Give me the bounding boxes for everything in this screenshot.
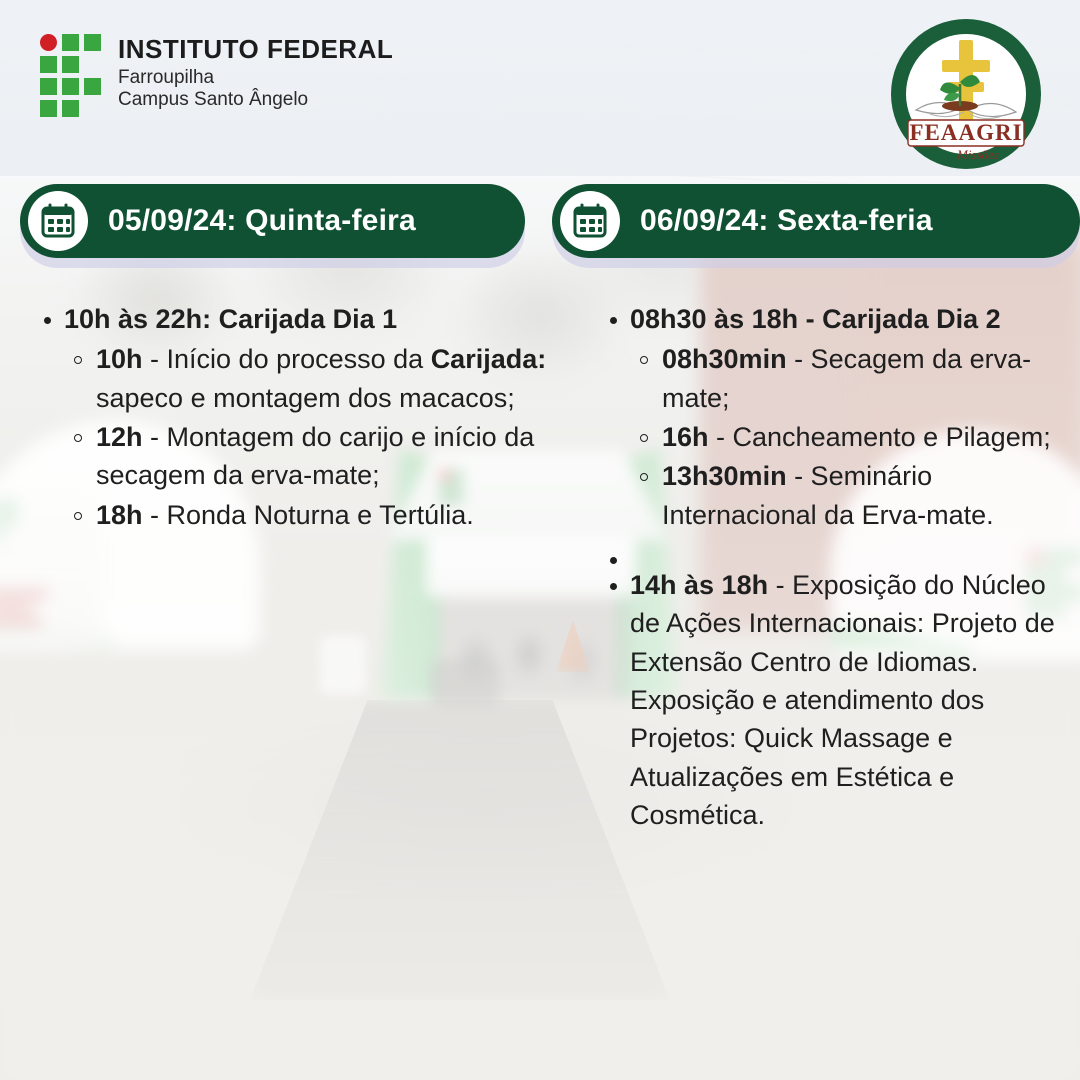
poster-canvas: INSTITUTO FEDERAL Farroupilha Campus San…	[0, 0, 1080, 1080]
item-title: 08h30 às 18h - Carijada Dia 2	[630, 304, 1001, 334]
list-item: 12h - Montagem do carijo e início da sec…	[64, 418, 549, 495]
day-header-pills: 05/09/24: Quinta-feira	[0, 184, 1080, 276]
day2-item-list: 08h30 às 18h - Carijada Dia 2 08h30min -…	[600, 300, 1060, 834]
svg-text:FEAAGRI: FEAAGRI	[909, 120, 1022, 145]
day2-sub-list: 08h30min - Secagem da erva-mate; 16h - C…	[630, 340, 1060, 534]
list-item: 13h30min - Seminário Internacional da Er…	[630, 457, 1060, 534]
item-title: 10h às 22h: Carijada Dia 1	[64, 304, 397, 334]
list-item: 18h - Ronda Noturna e Tertúlia.	[64, 496, 549, 534]
institution-line3: Campus Santo Ângelo	[118, 89, 393, 111]
day-pill-05-09[interactable]: 05/09/24: Quinta-feira	[20, 184, 525, 258]
item-time: 08h30min	[662, 344, 787, 374]
svg-text:Missões: Missões	[956, 147, 999, 162]
item-time: 14h às 18h	[630, 570, 768, 600]
list-item: 14h às 18h - Exposição do Núcleo de Açõe…	[600, 566, 1060, 834]
item-text: - Ronda Noturna e Tertúlia.	[143, 500, 474, 530]
item-text: - Exposição do Núcleo de Ações Internaci…	[630, 570, 1055, 830]
day-pill-label: 05/09/24: Quinta-feira	[108, 204, 416, 238]
institution-title: INSTITUTO FEDERAL	[118, 36, 393, 62]
item-emphasis: Carijada:	[431, 344, 547, 374]
day1-sub-list: 10h - Início do processo da Carijada: sa…	[64, 340, 549, 534]
list-item: 08h30min - Secagem da erva-mate;	[630, 340, 1060, 417]
item-time: 10h	[96, 344, 143, 374]
poster-header: INSTITUTO FEDERAL Farroupilha Campus San…	[0, 0, 1080, 176]
day1-item-list: 10h às 22h: Carijada Dia 1 10h - Início …	[34, 300, 549, 534]
item-text-cont: sapeco e montagem dos macacos;	[96, 383, 515, 413]
institution-line2: Farroupilha	[118, 67, 393, 89]
calendar-icon	[28, 191, 88, 251]
schedule-column-day1: 10h às 22h: Carijada Dia 1 10h - Início …	[34, 300, 549, 540]
calendar-icon	[560, 191, 620, 251]
item-text: - Cancheamento e Pilagem;	[709, 422, 1051, 452]
list-item: 08h30 às 18h - Carijada Dia 2 08h30min -…	[600, 300, 1060, 534]
list-item: 10h às 22h: Carijada Dia 1 10h - Início …	[34, 300, 549, 534]
day-pill-label: 06/09/24: Sexta-feria	[640, 204, 933, 238]
list-item: 16h - Cancheamento e Pilagem;	[630, 418, 1060, 456]
instituto-federal-logo: INSTITUTO FEDERAL Farroupilha Campus San…	[40, 30, 393, 116]
item-time: 16h	[662, 422, 709, 452]
feaagri-seal-icon: FEAAGRI Missões	[890, 18, 1042, 170]
item-text: - Início do processo da	[143, 344, 431, 374]
item-time: 18h	[96, 500, 143, 530]
item-time: 12h	[96, 422, 143, 452]
item-text: - Montagem do carijo e início da secagem…	[96, 422, 534, 490]
day-pill-06-09[interactable]: 06/09/24: Sexta-feria	[552, 184, 1080, 258]
if-grid-logo-icon	[40, 34, 102, 116]
item-time: 13h30min	[662, 461, 787, 491]
schedule-column-day2: 08h30 às 18h - Carijada Dia 2 08h30min -…	[600, 300, 1060, 840]
list-item: 10h - Início do processo da Carijada: sa…	[64, 340, 549, 417]
list-spacer	[600, 540, 1060, 566]
